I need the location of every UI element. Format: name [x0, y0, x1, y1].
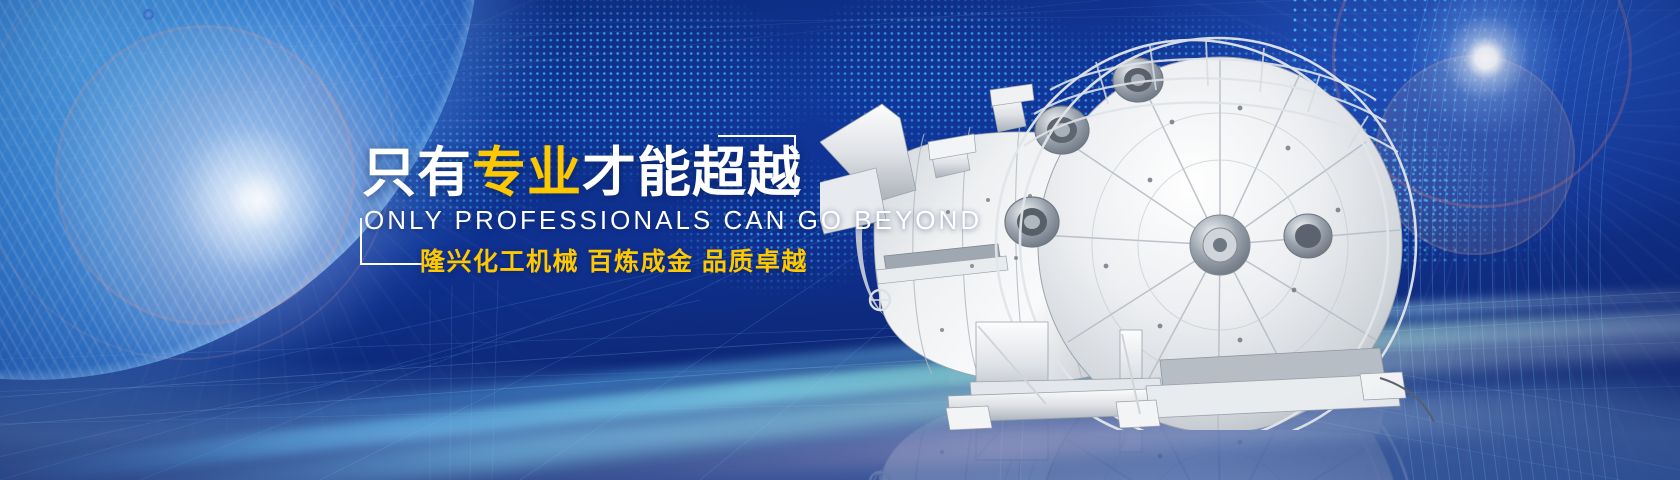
hero-banner: 只有专业才能超越 ONLY PROFESSIONALS CAN GO BEYON…	[0, 0, 1680, 480]
headline: 只有专业才能超越	[362, 146, 802, 200]
subtitle-chinese: 隆兴化工机械 百炼成金 品质卓越	[420, 242, 808, 278]
headline-tail: 才能超越	[582, 143, 802, 203]
subtitle-english: ONLY PROFESSIONALS CAN GO BEYOND	[364, 205, 982, 236]
headline-lead: 只有	[362, 143, 472, 203]
hero-text-block: 只有专业才能超越 ONLY PROFESSIONALS CAN GO BEYON…	[0, 0, 1680, 480]
headline-accent: 专业	[472, 143, 582, 203]
